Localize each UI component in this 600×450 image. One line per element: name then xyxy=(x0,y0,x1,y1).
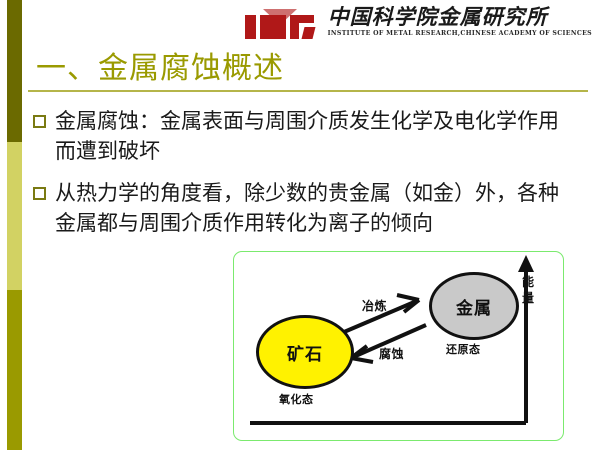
diagram-canvas: 矿石 金属 氧化态 还原态 冶炼 腐蚀 能量 xyxy=(234,252,563,440)
hollow-square-bullet-icon xyxy=(33,187,46,200)
list-item: 金属腐蚀：金属表面与周围介质发生化学及电化学作用而遭到破坏 xyxy=(33,106,578,166)
imr-logo: 中国科学院金属研究所 INSTITUTE OF METAL RESEARCH,C… xyxy=(245,5,592,47)
sidebar-segment-middle xyxy=(7,142,22,290)
bullet-list: 金属腐蚀：金属表面与周围介质发生化学及电化学作用而遭到破坏 从热力学的角度看，除… xyxy=(33,106,578,250)
smelt-arrow-head-lower xyxy=(404,300,419,312)
smelt-arrow-head-upper xyxy=(397,295,419,300)
energy-axis-label: 能量 xyxy=(521,274,535,306)
imr-logo-chinese-name: 中国科学院金属研究所 xyxy=(328,5,548,29)
imr-logo-english-name: INSTITUTE OF METAL RESEARCH,CHINESE ACAD… xyxy=(328,30,592,37)
title-divider xyxy=(28,90,588,92)
node-metal: 金属 xyxy=(429,272,519,340)
list-item: 从热力学的角度看，除少数的贵金属（如金）外，各种金属都与周围介质作用转化为离子的… xyxy=(33,178,578,238)
smelt-arrow-label: 冶炼 xyxy=(362,297,387,314)
node-metal-caption: 还原态 xyxy=(446,341,481,357)
hollow-square-bullet-icon xyxy=(33,115,46,128)
list-item-text: 金属腐蚀：金属表面与周围介质发生化学及电化学作用而遭到破坏 xyxy=(55,106,578,166)
logo-triangle-icon xyxy=(263,9,297,25)
decorative-sidebar xyxy=(7,0,22,450)
node-metal-label: 金属 xyxy=(456,294,492,319)
axis-energy-arrowhead xyxy=(518,255,534,272)
node-ore: 矿石 xyxy=(256,315,354,389)
list-item-text: 从热力学的角度看，除少数的贵金属（如金）外，各种金属都与周围介质作用转化为离子的… xyxy=(55,178,578,238)
logo-letter-r-stroke2 xyxy=(299,15,314,23)
node-ore-label: 矿石 xyxy=(287,340,323,365)
page-title: 一、金属腐蚀概述 xyxy=(36,43,284,87)
logo-letter-i-stroke xyxy=(245,15,256,39)
corrode-arrow-label: 腐蚀 xyxy=(379,345,404,362)
node-ore-caption: 氧化态 xyxy=(279,391,314,407)
imr-logo-wordmark: 中国科学院金属研究所 INSTITUTE OF METAL RESEARCH,C… xyxy=(328,5,592,37)
imr-logo-mark xyxy=(245,9,321,39)
logo-letter-r-stroke3 xyxy=(301,27,315,39)
corrosion-cycle-diagram: 矿石 金属 氧化态 还原态 冶炼 腐蚀 能量 xyxy=(233,251,564,441)
sidebar-segment-top xyxy=(7,0,22,142)
corrode-arrow-head-lower xyxy=(351,358,373,362)
sidebar-segment-bottom xyxy=(7,290,22,450)
